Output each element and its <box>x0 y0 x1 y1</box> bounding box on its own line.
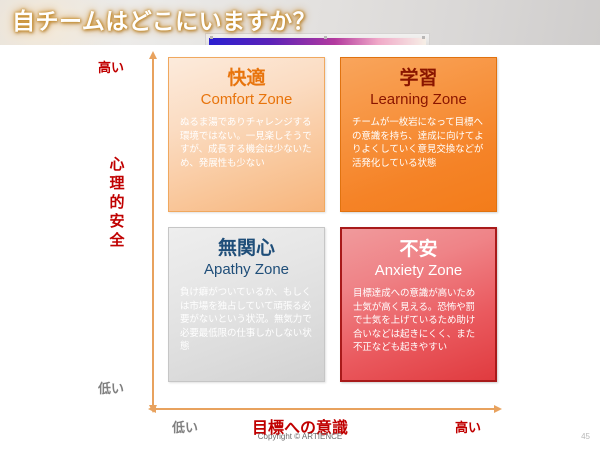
copyright-notice: Copyright © ARTIENCE <box>0 432 600 441</box>
y-axis-arrow <box>152 58 154 406</box>
y-axis-title-char-5: 全 <box>107 231 127 250</box>
zone-card-anxiety[interactable]: 不安 Anxiety Zone 目標達成への意識が高いため士気が高く見える。恐怖… <box>340 227 497 382</box>
zone-comfort-en-title: Comfort Zone <box>180 90 313 110</box>
y-axis-arrowhead-up-icon <box>149 51 157 59</box>
zone-anxiety-en-title: Anxiety Zone <box>353 261 484 281</box>
zone-card-learning[interactable]: 学習 Learning Zone チームが一枚岩になって目標への意識を持ち、達成… <box>340 57 497 212</box>
y-axis-title-char-2: 理 <box>107 174 127 193</box>
y-axis-low-label: 低い <box>98 378 124 397</box>
title-banner: 自チームはどこにいますか？ <box>0 0 600 45</box>
y-axis-title-char-1: 心 <box>107 155 127 174</box>
x-axis-arrowhead-right-icon <box>494 405 502 413</box>
x-axis-arrowhead-left-icon <box>148 405 156 413</box>
zone-card-apathy[interactable]: 無関心 Apathy Zone 負け癖がついているか、もしくは市場を独占していて… <box>168 227 325 382</box>
zone-apathy-en-title: Apathy Zone <box>180 260 313 280</box>
y-axis-title-char-4: 安 <box>107 212 127 231</box>
zone-learning-en-title: Learning Zone <box>352 90 485 110</box>
banner-photo-monitor-screen <box>209 38 426 45</box>
y-axis-title-char-3: 的 <box>107 193 127 212</box>
page-number: 45 <box>581 432 590 441</box>
banner-photo-monitor-dot-center <box>324 36 327 39</box>
slide-title: 自チームはどこにいますか？ <box>12 2 316 36</box>
two-by-two-matrix: 高い 低い 心 理 的 安 全 低い 高い 目標への意識 快適 Comfort … <box>0 45 600 450</box>
banner-photo-monitor-dot-right <box>422 36 425 39</box>
y-axis-title: 心 理 的 安 全 <box>107 155 127 250</box>
zone-apathy-jp-title: 無関心 <box>180 237 313 260</box>
zone-apathy-description: 負け癖がついているか、もしくは市場を独占していて頑張る必要がないという状況。無気… <box>180 286 313 354</box>
zone-card-comfort[interactable]: 快適 Comfort Zone ぬるま湯でありチャレンジする環境ではない。一見楽… <box>168 57 325 212</box>
zone-comfort-description: ぬるま湯でありチャレンジする環境ではない。一見楽しそうですが、成長する機会は少な… <box>180 116 313 170</box>
zone-anxiety-description: 目標達成への意識が高いため士気が高く見える。恐怖や罰で士気を上げているため助け合… <box>353 287 484 355</box>
zone-comfort-jp-title: 快適 <box>180 67 313 90</box>
banner-photo-monitor-dot-left <box>210 36 213 39</box>
zone-anxiety-jp-title: 不安 <box>353 238 484 261</box>
x-axis-arrow <box>155 408 495 410</box>
y-axis-high-label: 高い <box>98 57 124 76</box>
zone-learning-description: チームが一枚岩になって目標への意識を持ち、達成に向けてよりよくしていく意見交換な… <box>352 116 485 170</box>
zone-learning-jp-title: 学習 <box>352 67 485 90</box>
